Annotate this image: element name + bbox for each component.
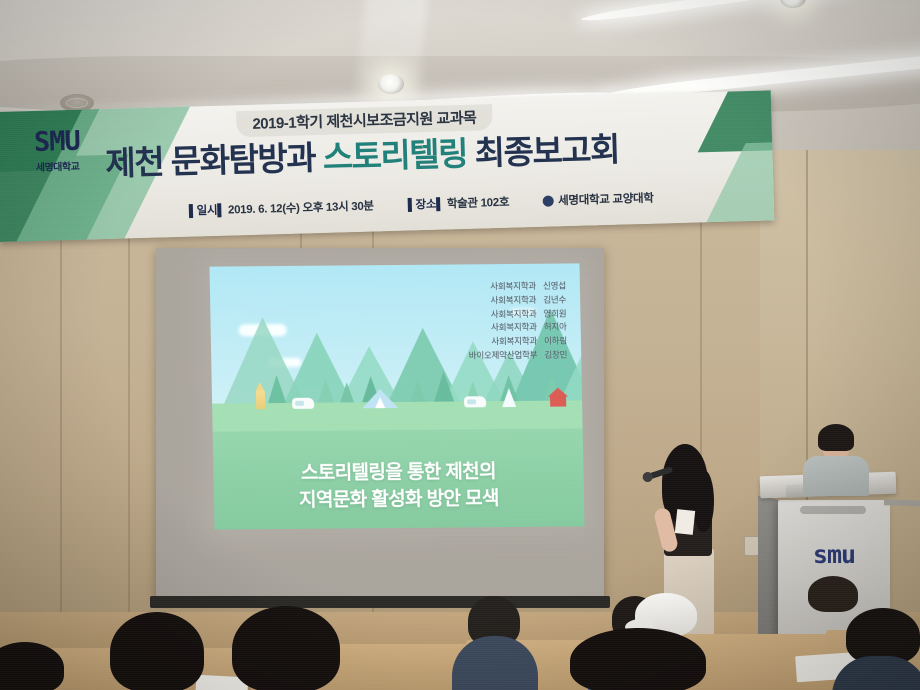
- list-item: 바이오제약산업학부김창민: [469, 348, 568, 363]
- audience-member-head: [110, 612, 204, 690]
- banner-date-value: 2019. 6. 12(수) 오후 13시 30분: [228, 200, 374, 216]
- banner-org-label: 세명대학교 교양대학: [558, 190, 654, 209]
- banner-title-part1: 제천 문화탐방과: [105, 139, 323, 182]
- presenter-hair-side: [694, 470, 714, 532]
- slide-title-line-1: 스토리텔링을 통한 제천의: [213, 458, 584, 488]
- list-item: 사회복지학과허지아: [468, 321, 567, 336]
- caravan-icon: [292, 398, 314, 409]
- tower-icon: [256, 389, 265, 409]
- smu-logo-mark: SMU: [8, 127, 105, 157]
- list-item: 사회복지학과신영섭: [467, 280, 566, 295]
- org-emblem-icon: [543, 195, 554, 206]
- event-banner: SMU 세명대학교 2019-1학기 제천시보조금지원 교과목 제천 문화탐방과…: [0, 90, 774, 242]
- podium-slot: [800, 506, 866, 514]
- banner-place: ▌장소▌ 학술관 102호: [407, 194, 509, 213]
- projected-slide: 사회복지학과신영섭 사회복지학과김년수 사회복지학과염희원 사회복지학과허지아 …: [209, 263, 584, 529]
- banner-meta: ▌일시▌ 2019. 6. 12(수) 오후 13시 30분 ▌장소▌ 학술관 …: [189, 190, 654, 219]
- list-item: 사회복지학과이하림: [468, 335, 567, 350]
- list-item: 사회복지학과염희원: [468, 307, 567, 322]
- operator-torso: [803, 456, 869, 496]
- tepee-icon: [502, 388, 516, 407]
- audience-member-head: [808, 576, 858, 612]
- banner-title-part3: 최종보고회: [466, 131, 619, 172]
- house-icon: [550, 396, 566, 407]
- banner-date-tag: ▌일시▌: [189, 205, 226, 218]
- banner-title: 제천 문화탐방과 스토리텔링 최종보고회: [105, 123, 620, 185]
- smu-logo-subtitle: 세명대학교: [9, 157, 105, 175]
- tent-icon: [362, 389, 398, 408]
- slide-presenter-list: 사회복지학과신영섭 사회복지학과김년수 사회복지학과염희원 사회복지학과허지아 …: [467, 280, 567, 363]
- banner-date: ▌일시▌ 2019. 6. 12(수) 오후 13시 30분: [189, 197, 374, 218]
- list-item: 사회복지학과김년수: [468, 293, 567, 308]
- projection-screen-bottom-bar: [150, 596, 610, 608]
- ceiling-spotlight: [378, 74, 404, 94]
- audience-member-head: [232, 606, 340, 690]
- audience-member-head: [570, 628, 706, 690]
- lecture-hall-photo: SMU 세명대학교 2019-1학기 제천시보조금지원 교과목 제천 문화탐방과…: [0, 0, 920, 690]
- banner-title-part2: 스토리텔링: [322, 135, 467, 176]
- operator-hair: [818, 424, 854, 451]
- smu-university-logo: SMU 세명대학교: [8, 127, 105, 175]
- slide-title-line-2: 지역문화 활성화 방안 모색: [214, 485, 585, 515]
- caravan-icon: [464, 396, 486, 407]
- banner-org: 세명대학교 교양대학: [543, 190, 654, 209]
- banner-place-value: 학술관 102호: [447, 197, 510, 211]
- banner-place-tag: ▌장소▌: [408, 199, 445, 212]
- podium-smu-logo: smu: [778, 540, 890, 569]
- ceiling-spotlight: [780, 0, 806, 8]
- slide-title: 스토리텔링을 통한 제천의 지역문화 활성화 방안 모색: [213, 458, 584, 515]
- presenter-script-paper: [675, 509, 695, 535]
